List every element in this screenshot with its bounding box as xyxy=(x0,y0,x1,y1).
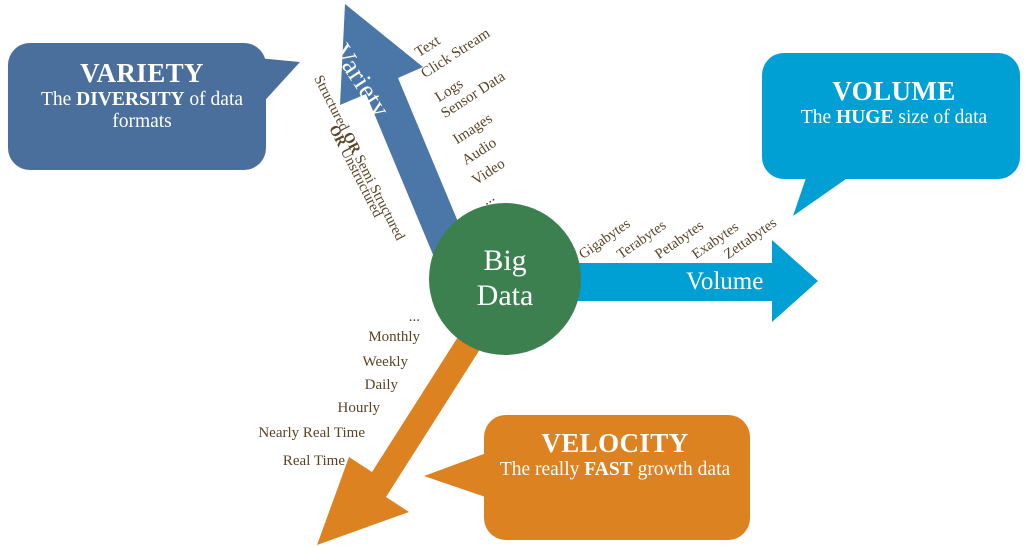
big-data-3vs-diagram: VARIETY The DIVERSITY of data formats VO… xyxy=(0,0,1027,547)
big-data-circle[interactable] xyxy=(429,203,581,355)
velocity-arrow-shape[interactable] xyxy=(317,318,484,545)
velocity-callout-shape[interactable] xyxy=(424,415,750,540)
diagram-artwork xyxy=(0,0,1027,547)
variety-arrow-shape[interactable] xyxy=(340,4,466,257)
variety-callout-shape[interactable] xyxy=(8,43,300,170)
volume-arrow-shape[interactable] xyxy=(560,240,818,322)
volume-callout-shape[interactable] xyxy=(762,53,1020,216)
